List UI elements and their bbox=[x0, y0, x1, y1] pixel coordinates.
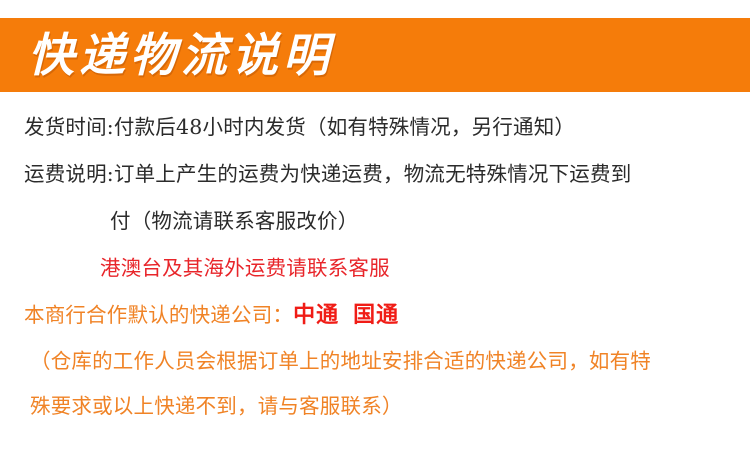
carrier-name-guotong: 国通 bbox=[353, 302, 399, 328]
content-body: 发货时间:付款后48小时内发货（如有特殊情况，另行通知） 运费说明:订单上产生的… bbox=[0, 104, 750, 429]
freight-note-line-1: 运费说明:订单上产生的运费为快递运费，物流无特殊情况下运费到 bbox=[0, 151, 750, 198]
default-carriers-line: 本商行合作默认的快递公司：中通国通 bbox=[0, 292, 750, 339]
shipping-info-page: 快递物流说明 发货时间:付款后48小时内发货（如有特殊情况，另行通知） 运费说明… bbox=[0, 0, 750, 462]
footnote-line-1: （仓库的工作人员会根据订单上的地址安排合适的快递公司，如有特 bbox=[0, 339, 750, 384]
header-banner: 快递物流说明 bbox=[0, 18, 750, 92]
page-title: 快递物流说明 bbox=[28, 32, 334, 78]
shipping-time-line: 发货时间:付款后48小时内发货（如有特殊情况，另行通知） bbox=[0, 104, 750, 151]
footnote-line-2: 殊要求或以上快递不到，请与客服联系） bbox=[0, 384, 750, 429]
default-carriers-prefix: 本商行合作默认的快递公司： bbox=[24, 303, 293, 327]
overseas-freight-note: 港澳台及其海外运费请联系客服 bbox=[0, 245, 750, 292]
freight-note-line-2: 付（物流请联系客服改价） bbox=[0, 198, 750, 245]
carrier-name-zhongtong: 中通 bbox=[293, 302, 339, 328]
